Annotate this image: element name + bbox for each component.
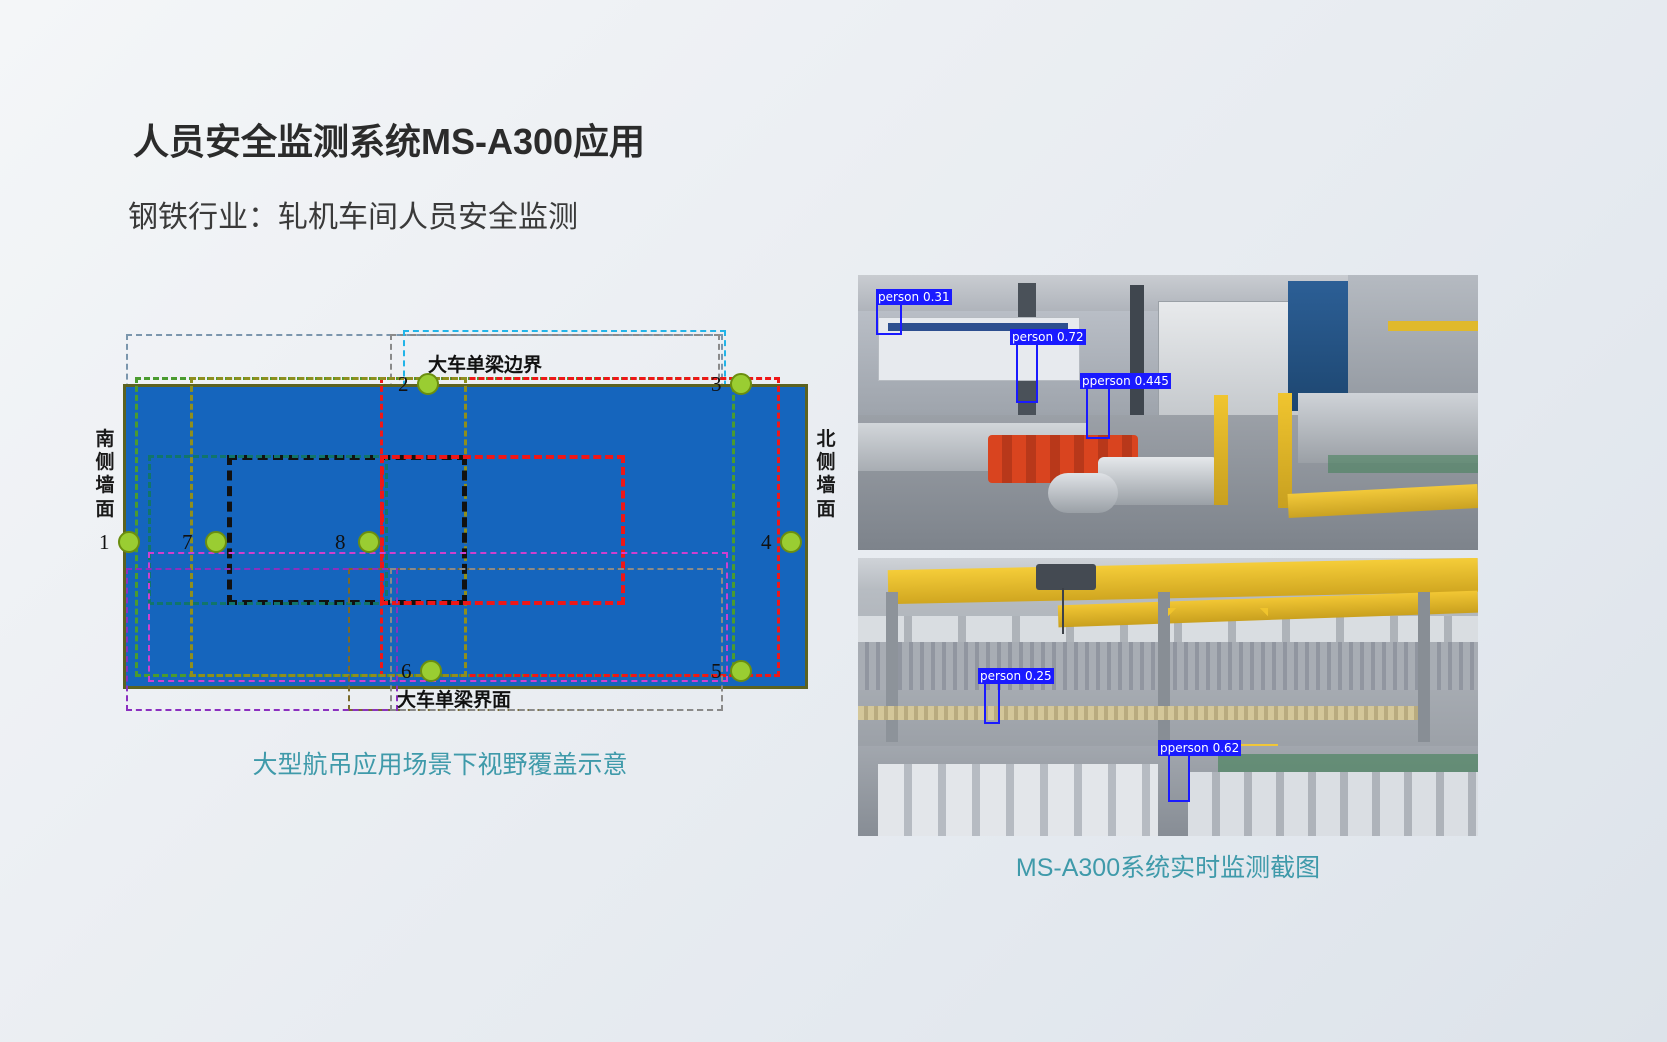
page-title: 人员安全监测系统MS-A300应用 — [133, 113, 645, 165]
sensor-node-7-label: 7 — [182, 530, 193, 555]
mezzanine-rail — [858, 706, 1418, 720]
detection-label-3: pperson 0.445 — [1080, 373, 1171, 389]
zone-node-6-purple — [126, 568, 398, 711]
page-subtitle: 钢铁行业：轧机车间人员安全监测 — [128, 192, 578, 236]
beam-boundary-bottom-label: 大车单梁界面 — [397, 685, 511, 712]
blue-machine-right — [1288, 281, 1348, 411]
sensor-node-4[interactable] — [780, 531, 802, 553]
sensor-node-1[interactable] — [118, 531, 140, 553]
photo-workshop-crane: person 0.25 pperson 0.62 — [858, 558, 1478, 836]
slide-root: 人员安全监测系统MS-A300应用 钢铁行业：轧机车间人员安全监测 南侧墙面 北… — [0, 0, 1667, 1042]
sensor-node-3-label: 3 — [711, 372, 722, 397]
south-wall-label: 南侧墙面 — [94, 428, 116, 521]
stacked-aluminium-right — [1188, 772, 1478, 836]
dark-column-mid — [1130, 285, 1144, 425]
sensor-node-4-label: 4 — [761, 530, 772, 555]
sensor-node-2-label: 2 — [398, 372, 409, 397]
diagram-caption: 大型航吊应用场景下视野覆盖示意 — [90, 745, 790, 781]
detection-box-1 — [876, 303, 902, 335]
sensor-node-8-label: 8 — [335, 530, 346, 555]
detection-box-5 — [1168, 754, 1190, 802]
sensor-node-7[interactable] — [205, 531, 227, 553]
green-floor-strip — [1328, 455, 1478, 473]
sensor-node-1-label: 1 — [99, 530, 110, 555]
silver-roll-small — [1048, 473, 1118, 513]
scissor-lift — [1168, 608, 1268, 758]
photos-caption: MS-A300系统实时监测截图 — [858, 848, 1478, 884]
machine-cluster-right — [1298, 393, 1478, 463]
north-wall-label: 北侧墙面 — [815, 428, 837, 521]
yellow-pillar-b — [1278, 393, 1292, 508]
sensor-node-6[interactable] — [420, 660, 442, 682]
crane-trolley — [1036, 564, 1096, 590]
detection-box-4 — [984, 682, 1000, 724]
detection-label-2: person 0.72 — [1010, 329, 1086, 345]
yellow-rail-right — [1388, 321, 1478, 331]
photo-rolling-mill: person 0.31 person 0.72 pperson 0.445 — [858, 275, 1478, 550]
sensor-node-5-label: 5 — [711, 659, 722, 684]
detection-label-5: pperson 0.62 — [1158, 740, 1241, 756]
sensor-node-8[interactable] — [358, 531, 380, 553]
sensor-node-5[interactable] — [730, 660, 752, 682]
detection-box-3 — [1086, 387, 1110, 439]
detection-box-2 — [1016, 343, 1038, 403]
crane-hook-line — [1062, 588, 1064, 634]
detection-label-4: person 0.25 — [978, 668, 1054, 684]
yellow-pillar-a — [1214, 395, 1228, 505]
detection-label-1: person 0.31 — [876, 289, 952, 305]
column-right — [1418, 592, 1430, 742]
coverage-diagram: 南侧墙面 北侧墙面 大车单梁边界 大车单梁界面 1 2 3 4 5 6 7 8 … — [90, 320, 790, 800]
stacked-aluminium-left — [878, 764, 1158, 836]
sensor-node-3[interactable] — [730, 373, 752, 395]
beam-boundary-top-label: 大车单梁边界 — [428, 350, 542, 377]
sensor-node-6-label: 6 — [401, 659, 412, 684]
